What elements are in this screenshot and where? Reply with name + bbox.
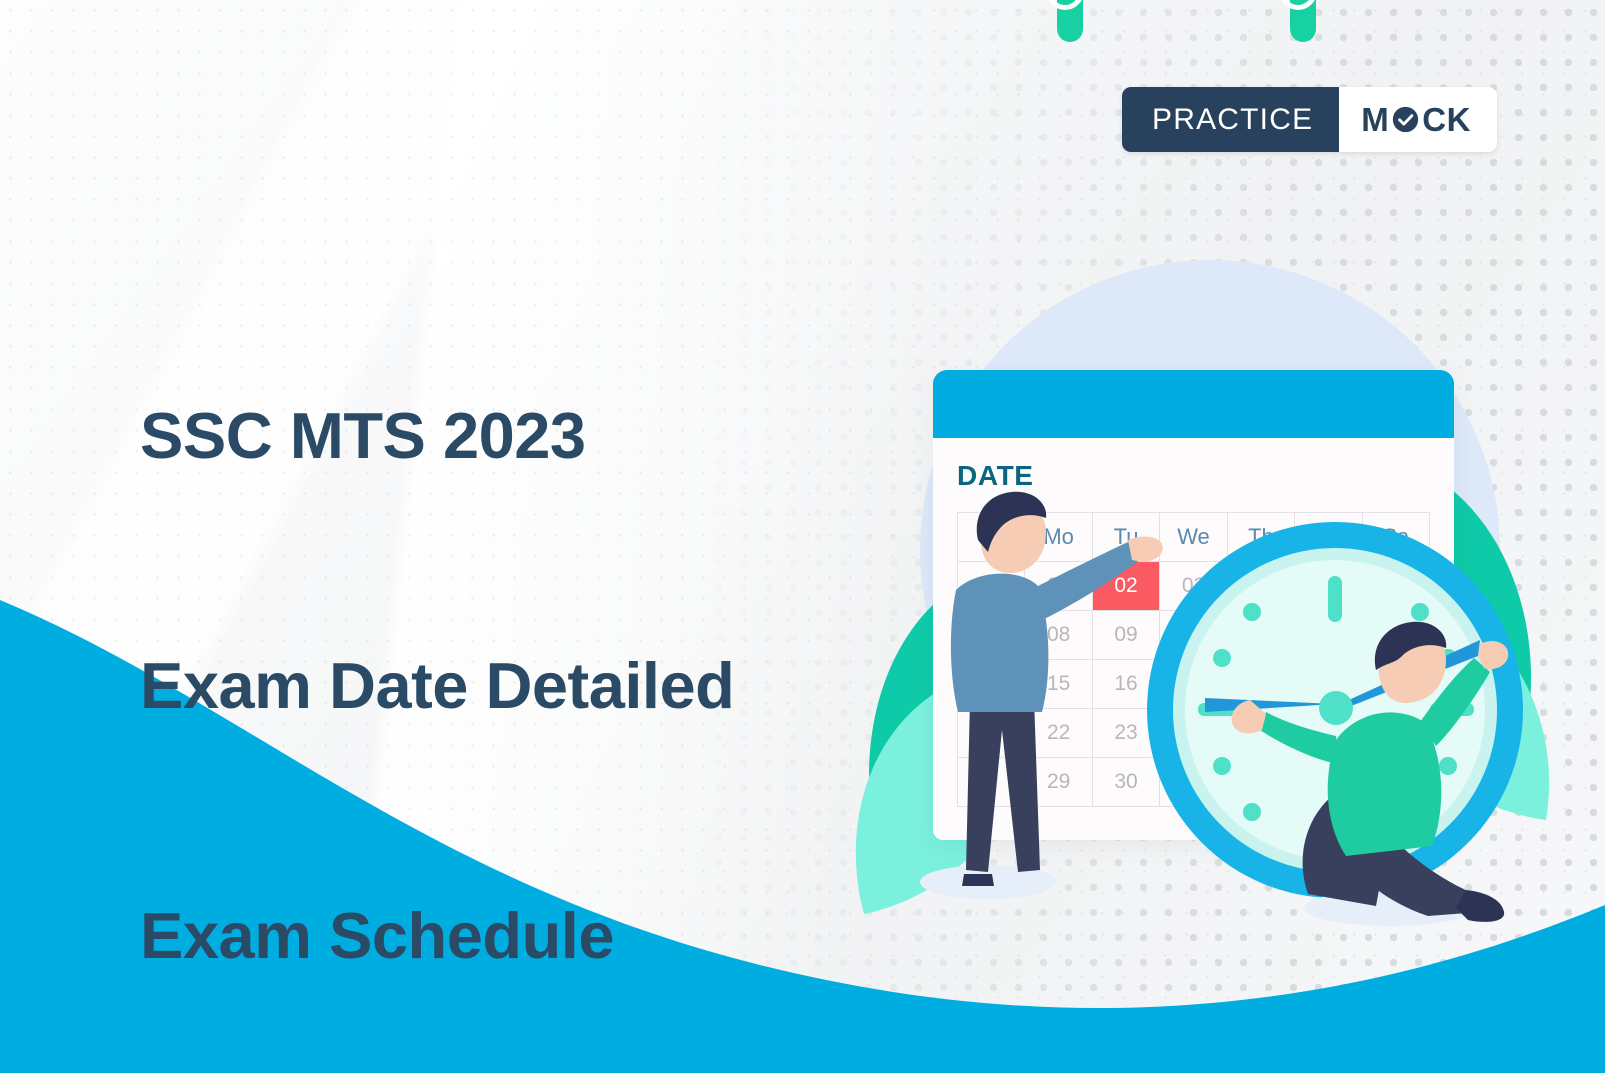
calendar-clip-left (1057, 0, 1083, 42)
check-circle-icon (1392, 106, 1419, 133)
clock-dot-2 (1411, 603, 1429, 621)
clock-dot-4 (1439, 757, 1457, 775)
headline-line-3: Exam Schedule (140, 894, 734, 977)
logo-mock-m: M (1361, 101, 1389, 139)
page-title: SSC MTS 2023 Exam Date Detailed Exam Sch… (140, 228, 734, 1073)
clock-dot-7 (1243, 803, 1261, 821)
left-person-shoes (962, 874, 994, 886)
left-person-legs (966, 698, 1040, 872)
left-person-arm (1030, 542, 1140, 622)
practicemock-logo[interactable]: PRACTICE M CK (1122, 87, 1497, 152)
headline-line-2: Exam Date Detailed (140, 644, 734, 727)
right-person-torso (1328, 712, 1442, 856)
headline-line-1: SSC MTS 2023 (140, 394, 734, 477)
logo-mock-text: M CK (1339, 87, 1497, 152)
promo-banner: PRACTICE M CK SSC MTS 2023 Exam Date Det… (0, 0, 1605, 1073)
illustration-foreground (780, 260, 1605, 960)
clock-marker-12 (1328, 576, 1342, 622)
logo-mock-ck: CK (1422, 101, 1471, 139)
clock-dot-9b (1213, 649, 1231, 667)
calendar-clip-right (1290, 0, 1316, 42)
left-person-hand (1128, 537, 1163, 562)
logo-practice-text: PRACTICE (1122, 87, 1339, 152)
clock-center-cap (1319, 691, 1353, 725)
clock-dot-10 (1243, 603, 1261, 621)
man-pointing-at-calendar (951, 492, 1163, 886)
clock-dot-8 (1213, 757, 1231, 775)
